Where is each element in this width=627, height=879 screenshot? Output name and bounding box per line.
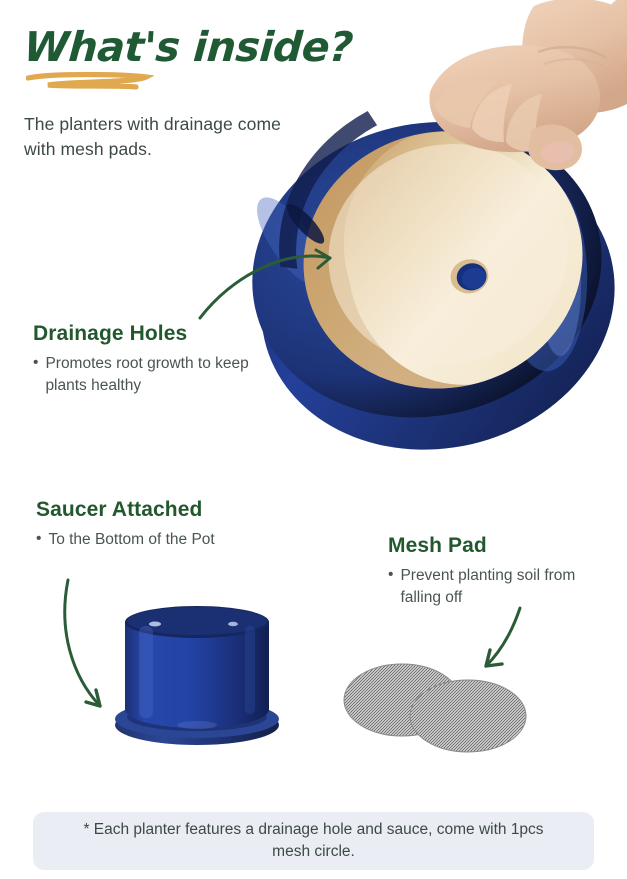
feature-saucer-attached: Saucer Attached • To the Bottom of the P… xyxy=(36,498,296,551)
title-underline-swoosh xyxy=(26,71,154,93)
feature-mesh-pad: Mesh Pad • Prevent planting soil from fa… xyxy=(388,534,598,608)
feature-bullet: • Promotes root growth to keep plants he… xyxy=(33,353,283,396)
bullet-dot-icon: • xyxy=(33,353,38,396)
bullet-dot-icon: • xyxy=(36,529,41,551)
saucer-planter-photo xyxy=(95,578,300,758)
feature-bullet-text: To the Bottom of the Pot xyxy=(48,529,214,551)
hero-planter-photo xyxy=(248,0,627,495)
feature-heading: Saucer Attached xyxy=(36,498,296,522)
feature-heading: Mesh Pad xyxy=(388,534,598,558)
feature-bullet-text: Promotes root growth to keep plants heal… xyxy=(45,353,283,396)
bullet-dot-icon: • xyxy=(388,565,393,608)
feature-heading: Drainage Holes xyxy=(33,322,283,346)
footer-note-text: * Each planter features a drainage hole … xyxy=(69,819,558,863)
feature-bullet: • Prevent planting soil from falling off xyxy=(388,565,598,608)
feature-bullet-text: Prevent planting soil from falling off xyxy=(400,565,598,608)
feature-drainage-holes: Drainage Holes • Promotes root growth to… xyxy=(33,322,283,396)
feature-bullet: • To the Bottom of the Pot xyxy=(36,529,296,551)
footer-note: * Each planter features a drainage hole … xyxy=(33,812,594,870)
mesh-pad-photo xyxy=(340,648,535,763)
subtitle: The planters with drainage come with mes… xyxy=(24,112,284,163)
